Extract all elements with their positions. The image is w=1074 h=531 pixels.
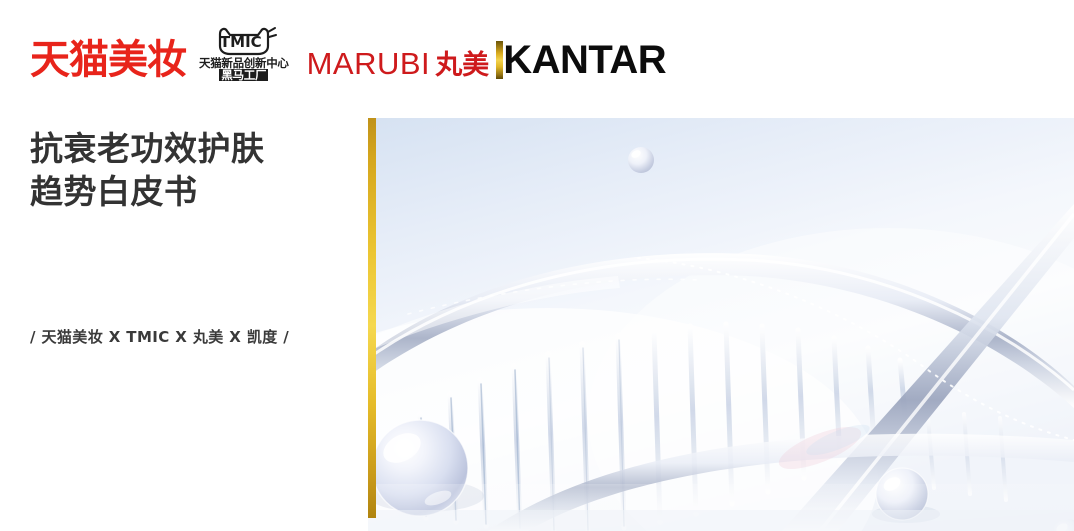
marubi-logo: MARUBI 丸美: [307, 48, 490, 84]
tmall-beauty-logo: 天猫美妆: [30, 40, 186, 84]
page-title: 抗衰老功效护肤 趋势白皮书: [30, 128, 350, 214]
kantar-logo: KANTAR: [496, 39, 666, 84]
logo-bar: 天猫美妆 TMIC 天猫新品创新中心 黑马工厂 MARUBI 丸美 KANTAR: [30, 22, 666, 84]
marubi-chinese-wordmark: 丸美: [435, 52, 489, 79]
partners-subtitle: / 天猫美妆 X TMIC X 丸美 X 凯度 /: [30, 326, 289, 347]
hero-image: [368, 118, 1074, 531]
kantar-gold-bar-icon: [496, 41, 503, 79]
tmic-cat-outline-icon: TMIC: [208, 26, 280, 56]
title-line-1: 抗衰老功效护肤: [30, 128, 350, 171]
tmic-logo: TMIC 天猫新品创新中心 黑马工厂: [199, 26, 289, 84]
sphere-small-top: [628, 147, 654, 173]
tmic-subtitle-line2: 黑马工厂: [219, 69, 268, 81]
kantar-wordmark: KANTAR: [503, 41, 666, 79]
marubi-latin-wordmark: MARUBI: [307, 48, 431, 79]
dna-helix-illustration: [368, 118, 1074, 531]
title-line-2: 趋势白皮书: [30, 171, 350, 214]
tmic-wordmark: TMIC: [220, 33, 262, 51]
gold-accent-bar: [368, 118, 376, 518]
